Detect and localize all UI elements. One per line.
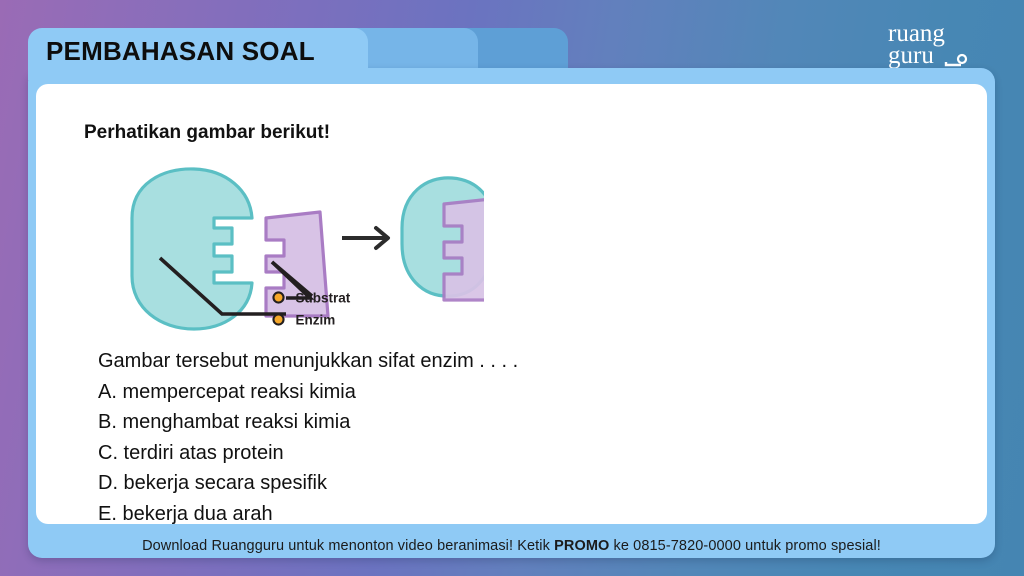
svg-text:guru: guru: [888, 42, 934, 69]
slide-card: Perhatikan gambar berikut!: [28, 68, 995, 558]
content-panel: Perhatikan gambar berikut!: [36, 84, 987, 524]
promo-text-after: ke 0815-7820-0000 untuk promo spesial!: [609, 538, 881, 554]
substrat-marker-icon: [272, 291, 285, 304]
option-d[interactable]: D. bekerja secara spesifik: [98, 468, 878, 499]
enzyme-substrate-complex: [402, 178, 484, 300]
enzyme-shape-left: [132, 169, 252, 329]
ruangguru-logo: ruang guru: [882, 18, 1002, 70]
figure-label-enzim-row: Enzim: [272, 311, 335, 329]
reaction-arrow-icon: [342, 228, 388, 248]
promo-text-before: Download Ruangguru untuk menonton video …: [142, 538, 554, 554]
promo-keyword: PROMO: [554, 538, 609, 554]
question-stem: Gambar tersebut menunjukkan sifat enzim …: [98, 346, 878, 377]
option-c[interactable]: C. terdiri atas protein: [98, 438, 878, 469]
figure-label-substrat: Substrat: [295, 290, 350, 305]
figure-label-substrat-row: Substrat: [272, 289, 350, 307]
page-title: PEMBAHASAN SOAL: [46, 36, 315, 67]
promo-footer: Download Ruangguru untuk menonton video …: [28, 538, 995, 554]
question-block: Gambar tersebut menunjukkan sifat enzim …: [98, 346, 878, 529]
option-a[interactable]: A. mempercepat reaksi kimia: [98, 377, 878, 408]
figure-label-enzim: Enzim: [295, 312, 335, 327]
instruction-heading: Perhatikan gambar berikut!: [84, 122, 330, 144]
option-e[interactable]: E. bekerja dua arah: [98, 499, 878, 530]
option-b[interactable]: B. menghambat reaksi kimia: [98, 407, 878, 438]
enzim-marker-icon: [272, 313, 285, 326]
